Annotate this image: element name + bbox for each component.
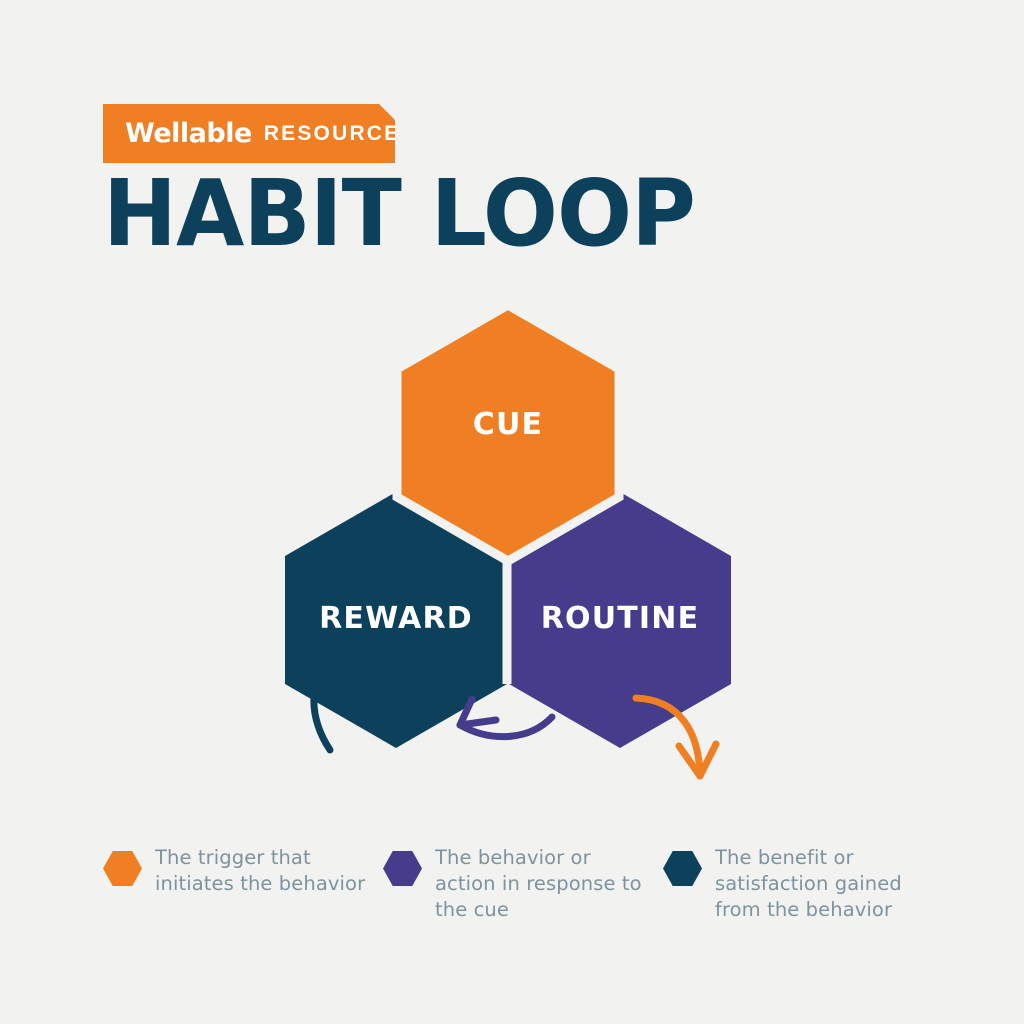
legend-item-reward-text: The benefit or satisfaction gained from …	[715, 845, 930, 923]
legend: The trigger that initiates the behavior …	[103, 845, 943, 923]
hexagon-swatch-reward-icon	[663, 851, 702, 886]
hexagon-reward-label: REWARD	[319, 601, 473, 636]
page-title: HABIT LOOP	[103, 168, 695, 260]
arrow-routine-to-reward	[460, 699, 552, 737]
hexagon-routine-label: ROUTINE	[541, 601, 700, 636]
hexagon-cue-label: CUE	[473, 407, 543, 442]
habit-loop-diagram: REWARD ROUTINE CUE	[0, 270, 1024, 790]
legend-item-routine-text: The behavior or action in response to th…	[435, 845, 650, 923]
resource-label: RESOURCE	[264, 123, 401, 144]
wellable-resource-badge: Wellable RESOURCE	[103, 104, 395, 163]
hexagon-swatch-routine-icon	[383, 851, 422, 886]
brand-name: Wellable	[125, 120, 252, 147]
hexagon-swatch-cue-icon	[103, 851, 142, 886]
legend-item-cue: The trigger that initiates the behavior	[103, 845, 383, 923]
legend-item-routine: The behavior or action in response to th…	[383, 845, 663, 923]
legend-item-reward: The benefit or satisfaction gained from …	[663, 845, 943, 923]
legend-item-cue-text: The trigger that initiates the behavior	[155, 845, 370, 897]
